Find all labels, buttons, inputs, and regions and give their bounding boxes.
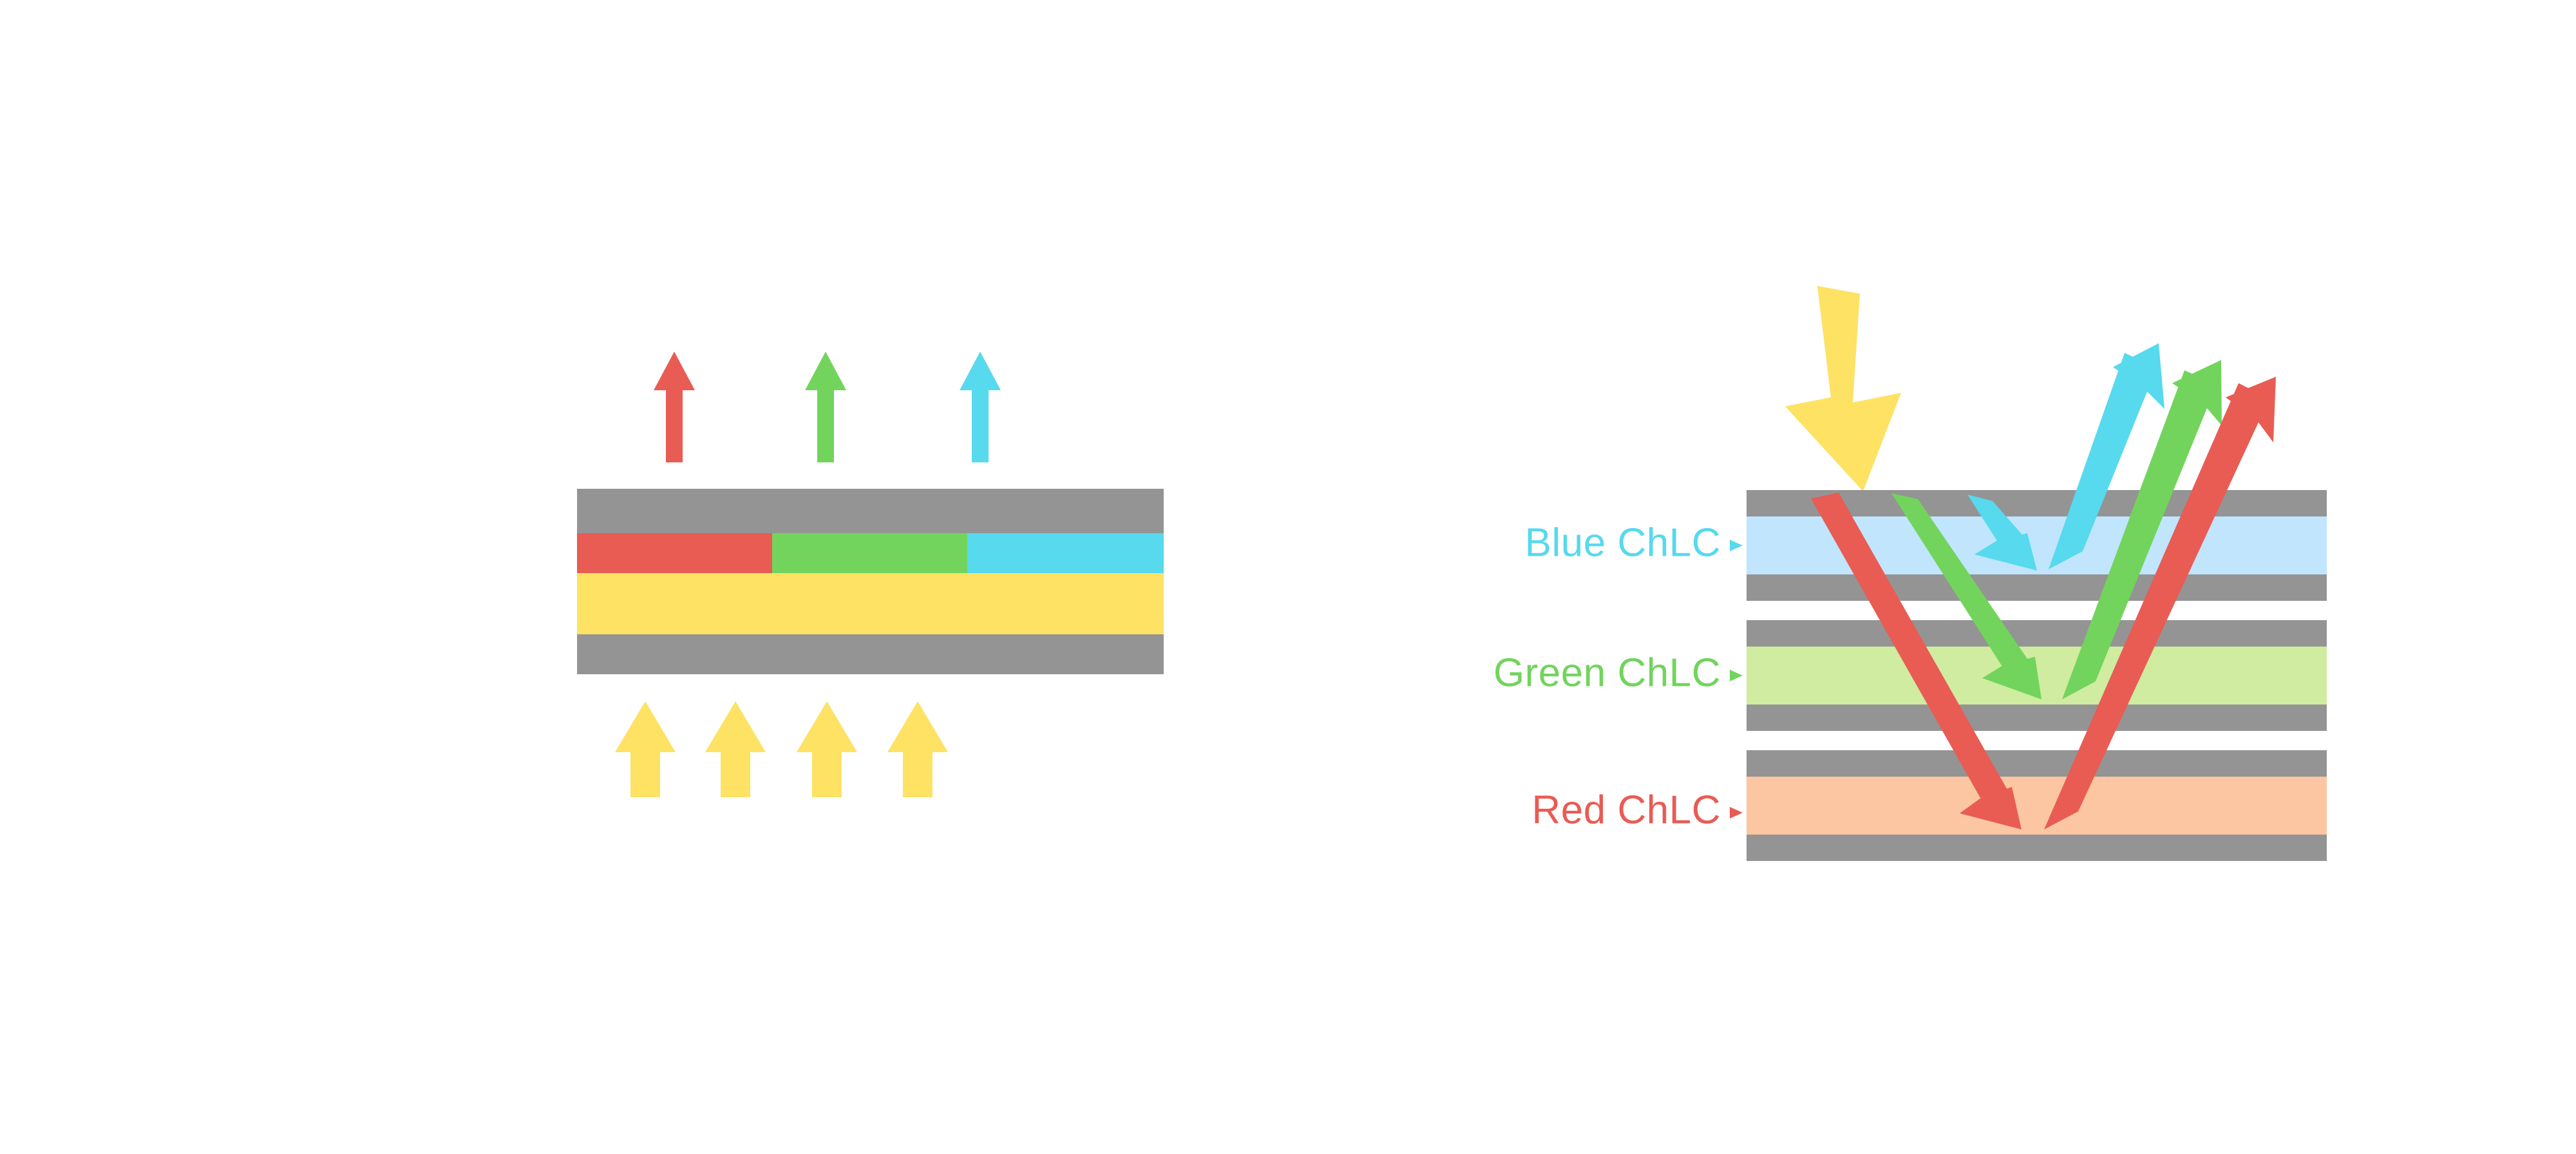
- yellow-backlight-layer: [577, 573, 1164, 634]
- blue-filter-segment: [967, 533, 1164, 573]
- backlight-arrow-group: [615, 701, 948, 797]
- red-emission-arrow: [654, 352, 695, 462]
- chlc-label-group: Blue ChLC Green ChLC Red ChLC: [1493, 520, 1743, 832]
- red-chlc-label: Red ChLC: [1532, 788, 1721, 832]
- bottom-substrate-layer: [577, 634, 1164, 674]
- red-filter-segment: [577, 533, 772, 573]
- diagram-svg: Blue ChLC Green ChLC Red ChLC: [0, 0, 2576, 1154]
- backlight-arrow-2: [705, 701, 766, 797]
- green-emission-arrow: [805, 352, 846, 462]
- red-bottom-electrode: [1747, 835, 2327, 861]
- green-bottom-electrode: [1747, 705, 2327, 731]
- red-chlc-layer: [1747, 777, 2327, 835]
- right-panel: Blue ChLC Green ChLC Red ChLC: [1493, 286, 2327, 861]
- top-substrate-layer: [577, 489, 1164, 533]
- green-chlc-label: Green ChLC: [1493, 650, 1721, 695]
- figure-canvas: Blue ChLC Green ChLC Red ChLC: [0, 0, 2576, 1154]
- blue-emission-arrow: [960, 352, 1001, 462]
- backlight-arrow-4: [887, 701, 948, 797]
- red-top-electrode: [1747, 750, 2327, 777]
- ambient-white-light-arrow: [1785, 286, 1901, 491]
- green-top-electrode: [1747, 620, 2327, 647]
- blue-chlc-label: Blue ChLC: [1525, 520, 1721, 565]
- backlight-arrow-3: [797, 701, 857, 797]
- gap-2: [1747, 731, 2327, 750]
- left-panel: [577, 352, 1164, 797]
- emitted-arrow-group: [654, 352, 1001, 462]
- backlight-arrow-1: [615, 701, 676, 797]
- green-filter-segment: [772, 533, 967, 573]
- blue-bottom-electrode: [1747, 574, 2327, 601]
- gap-1: [1747, 601, 2327, 620]
- left-stack: [577, 489, 1164, 674]
